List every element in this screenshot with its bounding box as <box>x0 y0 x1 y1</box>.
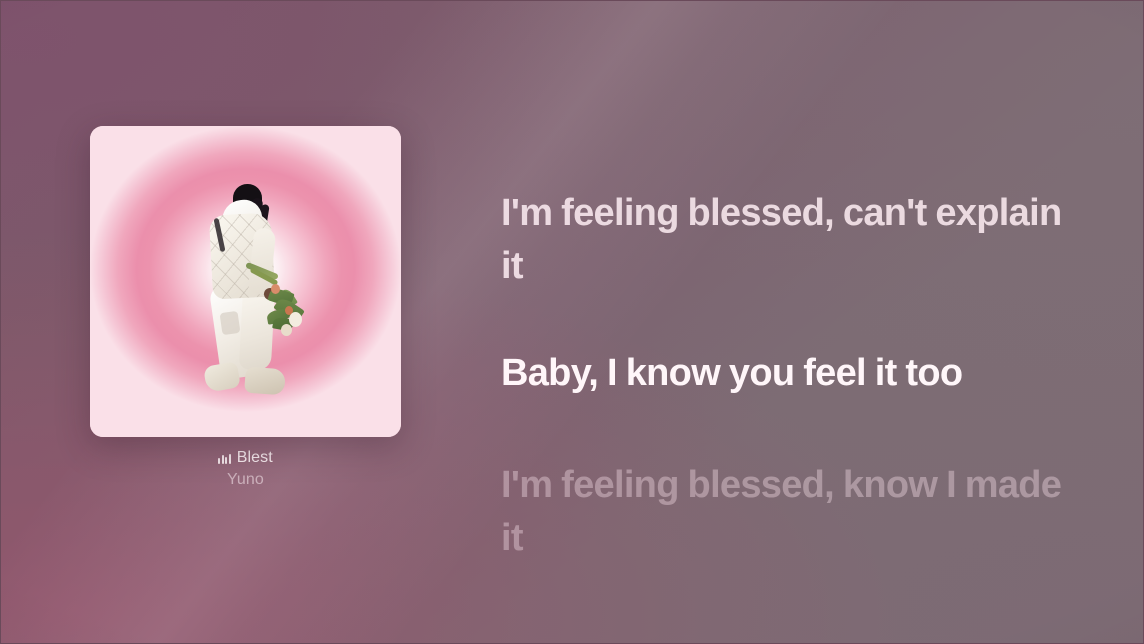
bouquet-bloom <box>289 312 302 327</box>
equalizer-bars-icon <box>218 453 231 464</box>
figure-boot-left <box>203 361 241 393</box>
lyric-line-active[interactable]: Baby, I know you feel it too <box>501 347 1076 400</box>
track-title: Blest <box>237 450 273 466</box>
figure-cargo-pocket <box>220 311 241 335</box>
bouquet-bloom <box>271 284 280 294</box>
track-title-row: Blest <box>90 450 401 466</box>
album-artwork[interactable] <box>90 126 401 437</box>
now-playing-lyrics-screen: Blest Yuno I'm feeling blessed, can't ex… <box>0 0 1144 644</box>
lyrics-panel[interactable]: I'm feeling blessed, can't explain it Ba… <box>501 187 1076 565</box>
lyric-line-previous[interactable]: I'm feeling blessed, can't explain it <box>501 187 1076 293</box>
track-artist: Yuno <box>90 471 401 489</box>
bouquet-bloom <box>281 324 292 336</box>
figure-boot-right <box>244 367 286 396</box>
now-playing-panel: Blest Yuno <box>90 126 401 489</box>
lyric-line-next[interactable]: I'm feeling blessed, know I made it <box>501 459 1076 565</box>
album-art-figure <box>193 184 311 429</box>
track-metadata: Blest Yuno <box>90 450 401 489</box>
